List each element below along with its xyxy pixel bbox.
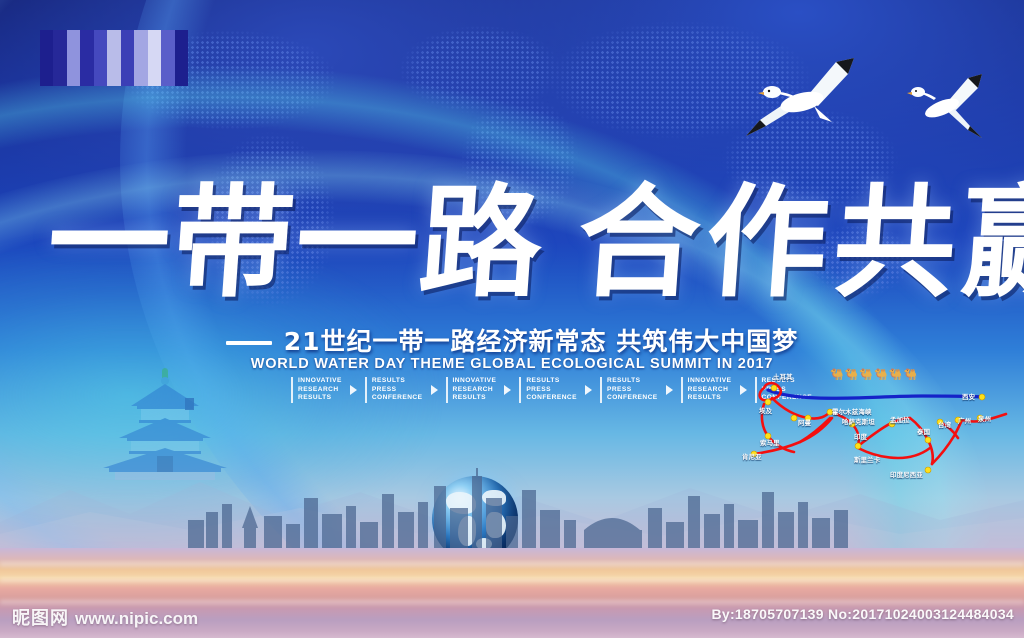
keyword-strip: INNOVATIVERESEARCHRESULTSRESULTSPRESSCON… bbox=[291, 377, 812, 403]
keyword-line-2: RESEARCH bbox=[453, 386, 497, 395]
mosaic-tile bbox=[67, 30, 80, 41]
mosaic-tile bbox=[175, 41, 188, 52]
keyword-line-1: RESULTS bbox=[372, 377, 423, 386]
mosaic-tile bbox=[40, 30, 53, 41]
mosaic-tile bbox=[80, 41, 93, 52]
mosaic-tile bbox=[148, 52, 161, 63]
chevron-right-icon bbox=[585, 385, 592, 395]
keyword-line-1: INNOVATIVE bbox=[298, 377, 342, 386]
map-label: 印度尼西亚 bbox=[890, 470, 923, 479]
map-label: 广州 bbox=[958, 416, 971, 425]
keyword-line-2: PRESS bbox=[607, 386, 658, 395]
poster-main-title: 一带一路合作共赢 bbox=[43, 172, 983, 312]
mosaic-tile bbox=[67, 41, 80, 52]
mosaic-tile bbox=[134, 30, 147, 41]
mosaic-tile bbox=[40, 75, 53, 86]
mosaic-tile bbox=[107, 41, 120, 52]
title-part-2: 合作共赢 bbox=[573, 170, 1024, 314]
map-label: 印度 bbox=[854, 432, 867, 441]
mosaic-tile bbox=[148, 41, 161, 52]
map-label: 孟加拉 bbox=[890, 415, 910, 424]
keyword-divider-bar bbox=[291, 377, 293, 403]
keyword-line-2: PRESS bbox=[526, 386, 577, 395]
camel-caravan-icon: 🐫🐫🐫🐫🐫🐫 bbox=[830, 368, 918, 381]
subtitle-text: 21世纪一带一路经济新常态 共筑伟大中国梦 bbox=[284, 327, 799, 356]
keyword-divider-bar bbox=[446, 377, 448, 403]
mosaic-tile bbox=[53, 30, 66, 41]
mosaic-tile bbox=[107, 52, 120, 63]
subtitle-dash bbox=[226, 341, 272, 345]
keyword-line-1: INNOVATIVE bbox=[453, 377, 497, 386]
mosaic-tile bbox=[161, 52, 174, 63]
mosaic-tile bbox=[121, 30, 134, 41]
mosaic-tile bbox=[53, 52, 66, 63]
seagull-icon-large bbox=[736, 48, 876, 144]
keyword-line-2: RESEARCH bbox=[688, 386, 732, 395]
mosaic-tile bbox=[134, 75, 147, 86]
nipic-site-url: www.nipic.com bbox=[75, 609, 198, 628]
keyword-block: RESULTSPRESSCONFERENCE bbox=[365, 377, 423, 403]
keyword-divider-bar bbox=[365, 377, 367, 403]
map-label: 西安 bbox=[962, 392, 975, 401]
mosaic-tile bbox=[175, 64, 188, 75]
keyword-block: INNOVATIVERESEARCHRESULTS bbox=[446, 377, 497, 403]
map-label: 台湾 bbox=[938, 420, 951, 429]
keyword-lines: INNOVATIVERESEARCHRESULTS bbox=[688, 377, 732, 403]
keyword-line-1: INNOVATIVE bbox=[688, 377, 732, 386]
chevron-right-icon bbox=[431, 385, 438, 395]
keyword-line-3: CONFERENCE bbox=[607, 394, 658, 403]
mosaic-tile bbox=[148, 75, 161, 86]
mosaic-tile bbox=[161, 64, 174, 75]
mosaic-tile bbox=[161, 75, 174, 86]
mosaic-tile bbox=[148, 30, 161, 41]
mosaic-tile bbox=[53, 75, 66, 86]
mosaic-tile bbox=[80, 30, 93, 41]
map-label: 泰国 bbox=[917, 427, 930, 436]
mosaic-redaction-block bbox=[40, 30, 188, 86]
mosaic-tile bbox=[161, 30, 174, 41]
mosaic-tile bbox=[121, 75, 134, 86]
mosaic-tile bbox=[67, 64, 80, 75]
mosaic-tile bbox=[148, 64, 161, 75]
mosaic-tile bbox=[121, 64, 134, 75]
mosaic-tile bbox=[134, 52, 147, 63]
keyword-line-2: RESEARCH bbox=[298, 386, 342, 395]
nipic-watermark: 昵图网 www.nipic.com bbox=[12, 604, 198, 630]
mosaic-tile bbox=[121, 41, 134, 52]
chevron-right-icon bbox=[350, 385, 357, 395]
chevron-right-icon bbox=[504, 385, 511, 395]
keyword-divider-bar bbox=[600, 377, 602, 403]
mosaic-tile bbox=[134, 41, 147, 52]
mosaic-tile bbox=[134, 64, 147, 75]
keyword-lines: INNOVATIVERESEARCHRESULTS bbox=[453, 377, 497, 403]
mosaic-tile bbox=[107, 64, 120, 75]
silk-road-map: 🐫🐫🐫🐫🐫🐫 土耳其埃及阿曼索马里肯尼亚霍尔木兹海峡哈萨克斯坦印度斯里兰卡孟加拉… bbox=[742, 370, 1024, 482]
keyword-block: INNOVATIVERESEARCHRESULTS bbox=[681, 377, 732, 403]
mosaic-tile bbox=[53, 64, 66, 75]
mosaic-tile bbox=[94, 41, 107, 52]
keyword-line-1: RESULTS bbox=[607, 377, 658, 386]
poster-subtitle: 21世纪一带一路经济新常态 共筑伟大中国梦 bbox=[0, 322, 1024, 358]
map-label: 埃及 bbox=[759, 406, 772, 415]
mosaic-tile bbox=[40, 41, 53, 52]
mosaic-tile bbox=[94, 64, 107, 75]
keyword-lines: INNOVATIVERESEARCHRESULTS bbox=[298, 377, 342, 403]
seagull-icon-small bbox=[890, 66, 1006, 146]
map-label: 土耳其 bbox=[773, 372, 793, 381]
title-part-1: 一带一路 bbox=[43, 170, 549, 314]
keyword-block: INNOVATIVERESEARCHRESULTS bbox=[291, 377, 342, 403]
keyword-line-3: RESULTS bbox=[688, 394, 732, 403]
mosaic-tile bbox=[94, 75, 107, 86]
map-label: 霍尔木兹海峡 bbox=[832, 407, 872, 416]
map-label: 肯尼亚 bbox=[742, 452, 762, 461]
poster-canvas: 一带一路合作共赢 21世纪一带一路经济新常态 共筑伟大中国梦 WORLD WAT… bbox=[0, 0, 1024, 638]
mosaic-tile bbox=[121, 52, 134, 63]
map-label: 斯里兰卡 bbox=[854, 455, 880, 464]
mosaic-tile bbox=[67, 52, 80, 63]
map-label: 索马里 bbox=[760, 438, 780, 447]
mosaic-tile bbox=[161, 41, 174, 52]
keyword-line-3: CONFERENCE bbox=[372, 394, 423, 403]
mosaic-tile bbox=[94, 30, 107, 41]
mosaic-tile bbox=[80, 75, 93, 86]
keyword-lines: RESULTSPRESSCONFERENCE bbox=[526, 377, 577, 403]
map-label: 阿曼 bbox=[798, 418, 811, 427]
mosaic-tile bbox=[107, 30, 120, 41]
map-label: 泉州 bbox=[978, 414, 991, 423]
keyword-block: RESULTSPRESSCONFERENCE bbox=[600, 377, 658, 403]
nipic-brand-cn: 昵图网 bbox=[12, 608, 69, 628]
keyword-divider-bar bbox=[681, 377, 683, 403]
keyword-line-1: RESULTS bbox=[526, 377, 577, 386]
mosaic-tile bbox=[40, 64, 53, 75]
chevron-right-icon bbox=[666, 385, 673, 395]
mosaic-tile bbox=[94, 52, 107, 63]
keyword-line-2: PRESS bbox=[372, 386, 423, 395]
map-label: 哈萨克斯坦 bbox=[842, 417, 875, 426]
mosaic-tile bbox=[80, 64, 93, 75]
keyword-block: RESULTSPRESSCONFERENCE bbox=[519, 377, 577, 403]
mosaic-tile bbox=[40, 52, 53, 63]
mosaic-tile bbox=[175, 75, 188, 86]
keyword-line-3: RESULTS bbox=[298, 394, 342, 403]
mosaic-tile bbox=[175, 30, 188, 41]
mosaic-tile bbox=[175, 52, 188, 63]
keyword-divider-bar bbox=[519, 377, 521, 403]
mosaic-tile bbox=[67, 75, 80, 86]
keyword-lines: RESULTSPRESSCONFERENCE bbox=[607, 377, 658, 403]
keyword-lines: RESULTSPRESSCONFERENCE bbox=[372, 377, 423, 403]
image-credit-id: By:18705707139 No:20171024003124484034 bbox=[711, 606, 1014, 622]
mosaic-tile bbox=[53, 41, 66, 52]
mosaic-tile bbox=[107, 75, 120, 86]
mosaic-tile bbox=[80, 52, 93, 63]
keyword-line-3: CONFERENCE bbox=[526, 394, 577, 403]
keyword-line-3: RESULTS bbox=[453, 394, 497, 403]
